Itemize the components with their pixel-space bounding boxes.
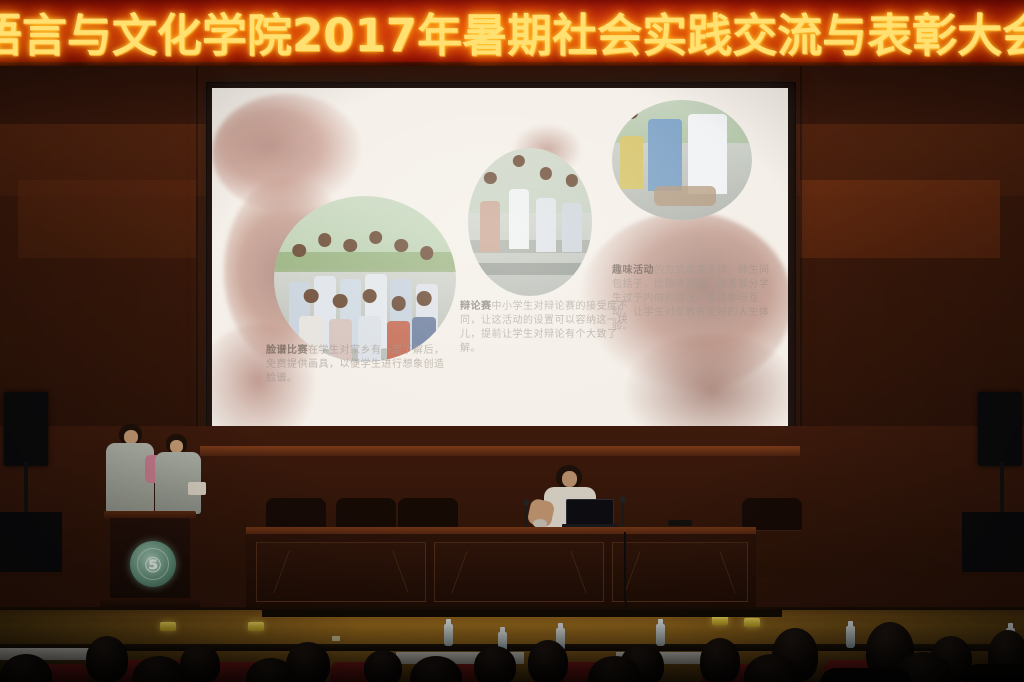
slide-photo-oval-1 <box>274 196 456 362</box>
slide-heading-3: 趣味活动 <box>612 265 654 276</box>
head-table-front <box>246 534 756 615</box>
audience-head <box>86 636 128 682</box>
slide-text-block-1: 脸谱比赛在学生对家乡有一定了解后，免费提供画具，以便学生进行想象创造脸谱。 <box>266 344 448 386</box>
wall-groove-right <box>800 66 802 446</box>
pa-speaker-right-pole <box>1000 462 1004 514</box>
slide-photo-oval-3 <box>612 100 752 220</box>
university-emblem-icon: ⑤ <box>130 541 176 587</box>
power-cable <box>624 532 648 612</box>
water-bottle <box>656 624 665 646</box>
projection-screen: 脸谱比赛在学生对家乡有一定了解后，免费提供画具，以便学生进行想象创造脸谱。 辩论… <box>212 88 788 444</box>
empty-chair <box>336 498 396 530</box>
slide-text-block-2: 辩论赛中小学生对辩论赛的接受度不同，让这活动的设置可以容纳这一块儿，提前让学生对… <box>460 300 632 356</box>
table-panel <box>434 542 604 602</box>
empty-chair <box>742 498 802 530</box>
slide-text-block-3: 趣味活动的方式丰富多样，师生间包括子，比趣味游戏，改善部分学生过于内向的情况，使… <box>612 264 778 334</box>
water-bottle <box>846 626 855 648</box>
audience-head <box>474 646 516 682</box>
pa-speaker-left-sub <box>0 512 62 572</box>
event-banner-text: 语言与文化学院2017年暑期社会实践交流与表彰大会 <box>0 0 1024 64</box>
audience-shoulders <box>820 668 912 682</box>
wall-groove-left <box>196 66 198 446</box>
empty-chair <box>398 498 458 530</box>
emblem-mark: ⑤ <box>144 553 162 577</box>
slide-heading-1: 脸谱比赛 <box>266 345 308 356</box>
table-device <box>668 520 692 526</box>
pa-speaker-right-top <box>978 392 1022 466</box>
empty-chair <box>266 498 326 530</box>
microphone-left <box>525 503 527 529</box>
floor-light <box>744 618 760 627</box>
pa-speaker-right-sub <box>962 512 1024 572</box>
event-banner: 语言与文化学院2017年暑期社会实践交流与表彰大会 <box>0 0 1024 66</box>
floor-light <box>248 622 264 631</box>
wall-panel-right <box>800 180 1000 258</box>
audience-head <box>700 638 740 682</box>
screen-ledge <box>200 446 800 456</box>
floor-light <box>160 622 176 631</box>
slide-heading-2: 辩论赛 <box>460 301 492 312</box>
slide-photo-oval-2 <box>468 148 592 296</box>
pa-speaker-left-pole <box>24 462 28 514</box>
audience-head <box>528 640 568 682</box>
audience-head <box>364 650 402 682</box>
water-bottle <box>444 624 453 646</box>
audience-shoulders <box>962 664 1024 682</box>
table-panel <box>256 542 426 602</box>
audience-head <box>180 644 220 682</box>
photograph-conference-hall: 语言与文化学院2017年暑期社会实践交流与表彰大会 <box>0 0 1024 682</box>
bottle-cap <box>332 636 340 641</box>
wall-panel-left <box>18 180 196 258</box>
floor-light <box>712 616 728 625</box>
microphone-right <box>622 500 624 529</box>
pa-speaker-left-top <box>4 392 48 466</box>
seated-operator-face <box>562 471 577 487</box>
speaker-1-face <box>124 430 138 444</box>
speaker-2-held-paper <box>188 482 206 495</box>
cable-run <box>262 610 782 617</box>
